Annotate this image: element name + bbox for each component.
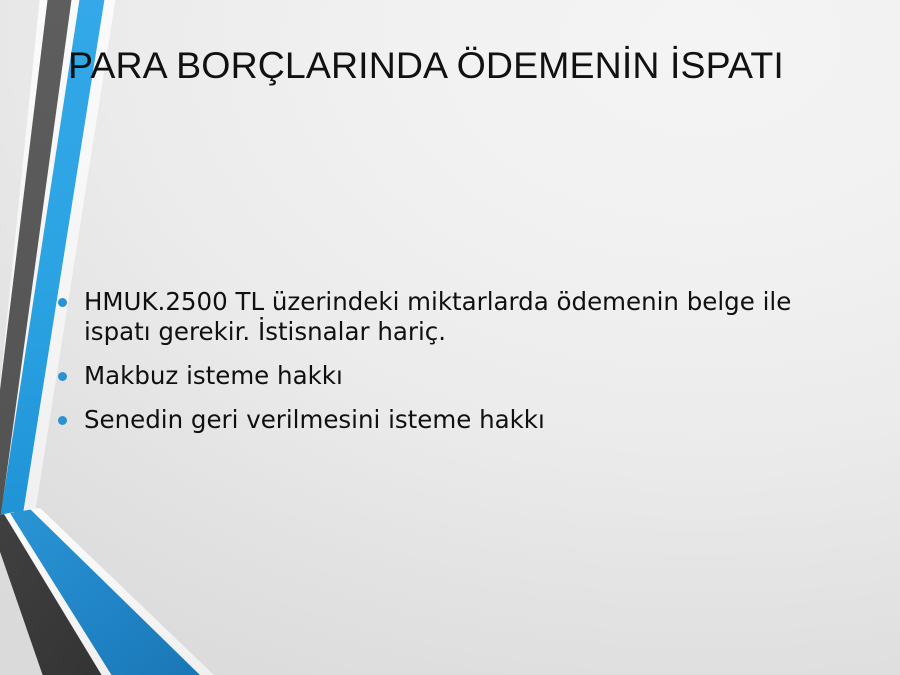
list-item-text: Senedin geri verilmesini isteme hakkı	[84, 405, 842, 435]
body-placeholder: HMUK.2500 TL üzerindeki miktarlarda ödem…	[52, 287, 842, 435]
list-item-text: HMUK.2500 TL üzerindeki miktarlarda ödem…	[84, 287, 842, 347]
title-placeholder: PARA BORÇLARINDA ÖDEMENİN İSPATI	[68, 44, 868, 86]
list-item: HMUK.2500 TL üzerindeki miktarlarda ödem…	[52, 287, 842, 347]
presentation-slide: PARA BORÇLARINDA ÖDEMENİN İSPATI HMUK.25…	[0, 0, 900, 675]
bullet-list: HMUK.2500 TL üzerindeki miktarlarda ödem…	[52, 287, 842, 435]
list-item: Makbuz isteme hakkı	[52, 361, 842, 391]
bullet-dot-icon	[58, 416, 67, 425]
page-title: PARA BORÇLARINDA ÖDEMENİN İSPATI	[68, 44, 868, 86]
list-item: Senedin geri verilmesini isteme hakkı	[52, 405, 842, 435]
bullet-dot-icon	[58, 372, 67, 381]
list-item-text: Makbuz isteme hakkı	[84, 361, 842, 391]
bullet-dot-icon	[58, 298, 67, 307]
